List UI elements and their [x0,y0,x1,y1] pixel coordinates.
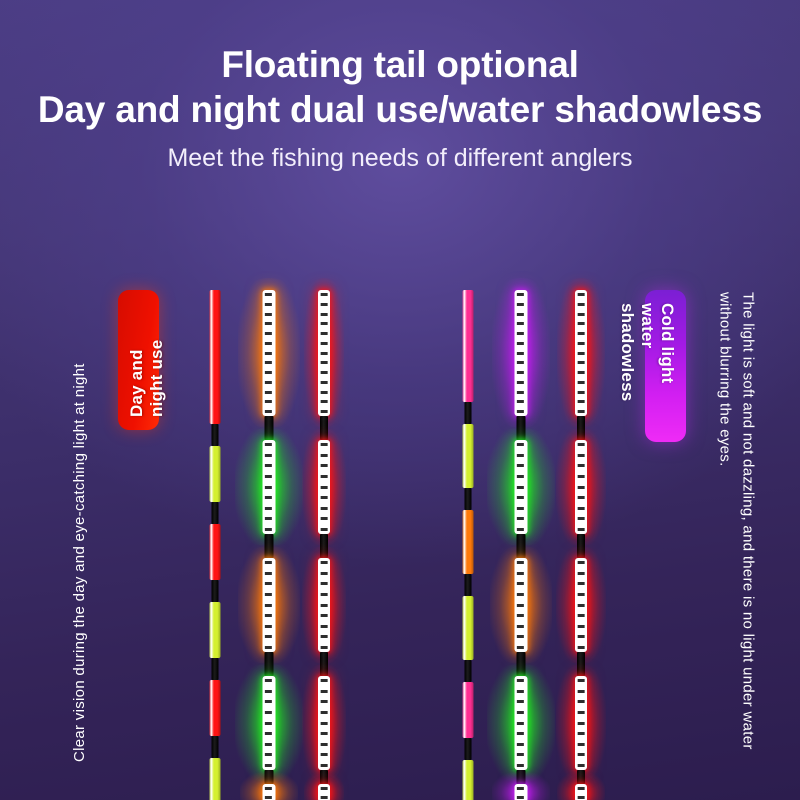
rod-luminous-segment [262,558,275,652]
rod-luminous-segment [262,676,275,770]
rod-rung-ladder [517,561,524,649]
float-3-night-red [318,290,330,800]
rod-black-band [264,652,273,676]
rod-luminous-segment [262,440,275,534]
rod-color-segment [462,510,473,574]
rod-rung-ladder [517,443,524,531]
rod-luminous-segment [262,290,275,416]
rod-luminous-segment [575,676,587,770]
rod-rung-ladder [265,561,272,649]
rod-black-band [464,402,471,424]
badge-cold-light-water-shadowless: Cold light water shadowless [645,290,686,442]
rod-black-band [264,534,273,558]
rod-black-band [516,652,525,676]
rod-black-band [516,770,525,784]
rod-color-segment [209,680,220,736]
rod-black-band [211,502,218,524]
rod-color-segment [462,682,473,738]
rod-black-band [577,416,585,440]
rod-rung-ladder [321,293,328,413]
headline-line-2: Day and night dual use/water shadowless [0,89,800,130]
rod-luminous-segment [318,290,330,416]
rod-black-band [211,580,218,602]
rod-rung-ladder [265,787,272,799]
rod-luminous-segment [514,290,527,416]
rod-black-band [577,770,585,784]
rod-color-segment [209,602,220,658]
rod-black-band [264,770,273,784]
rod-black-band [577,652,585,676]
rod-black-band [516,416,525,440]
headline-subtitle: Meet the fishing needs of different angl… [0,144,800,173]
rod-black-band [211,736,218,758]
rod-luminous-segment [318,558,330,652]
rod-luminous-segment [514,440,527,534]
rod-luminous-segment [262,784,275,800]
rod-black-band [320,770,328,784]
float-5-night-purple-green [514,290,527,800]
rod-rung-ladder [321,679,328,767]
rod-rung-ladder [517,293,524,413]
rod-rung-ladder [321,443,328,531]
rod-luminous-segment [318,440,330,534]
rod-rung-ladder [265,443,272,531]
rod-black-band [264,416,273,440]
rod-color-segment [462,424,473,488]
rod-black-band [516,534,525,558]
rod-black-band [464,660,471,682]
rod-rung-ladder [578,443,585,531]
rod-luminous-segment [514,676,527,770]
rod-rung-ladder [321,787,328,799]
rod-black-band [211,658,218,680]
right-description-text: The light is soft and not dazzling, and … [713,292,760,762]
rod-luminous-segment [575,784,587,800]
rod-black-band [320,652,328,676]
rod-luminous-segment [318,784,330,800]
rod-luminous-segment [575,440,587,534]
rod-black-band [320,534,328,558]
left-description-text: Clear vision during the day and eye-catc… [68,292,91,762]
rod-color-segment [462,596,473,660]
rod-luminous-segment [514,784,527,800]
rod-color-segment [209,758,220,800]
rod-black-band [211,424,218,446]
rod-rung-ladder [321,561,328,649]
rod-color-segment [462,760,473,800]
rod-luminous-segment [575,290,587,416]
rod-color-segment [209,290,220,424]
rod-rung-ladder [578,561,585,649]
rod-black-band [320,416,328,440]
rod-luminous-segment [318,676,330,770]
rod-rung-ladder [265,293,272,413]
rod-black-band [464,738,471,760]
rod-luminous-segment [514,558,527,652]
rod-color-segment [209,524,220,580]
badge-day-and-night-use: Day and night use [118,290,159,430]
rod-black-band [464,574,471,596]
headline-line-1: Floating tail optional [0,44,800,85]
float-4-daylight-pink-yellow [462,290,473,800]
float-2-night-orange-green [262,290,275,800]
rod-rung-ladder [517,679,524,767]
rod-rung-ladder [265,679,272,767]
rod-rung-ladder [578,787,585,799]
rod-black-band [577,534,585,558]
rod-black-band [464,488,471,510]
rod-luminous-segment [575,558,587,652]
rod-rung-ladder [578,679,585,767]
advertisement-banner: Floating tail optional Day and night dua… [0,0,800,800]
rod-rung-ladder [517,787,524,799]
float-6-night-red [575,290,587,800]
float-1-daylight-red-yellow [209,290,220,800]
rod-color-segment [462,290,473,402]
rod-color-segment [209,446,220,502]
rod-rung-ladder [578,293,585,413]
headline-block: Floating tail optional Day and night dua… [0,44,800,173]
